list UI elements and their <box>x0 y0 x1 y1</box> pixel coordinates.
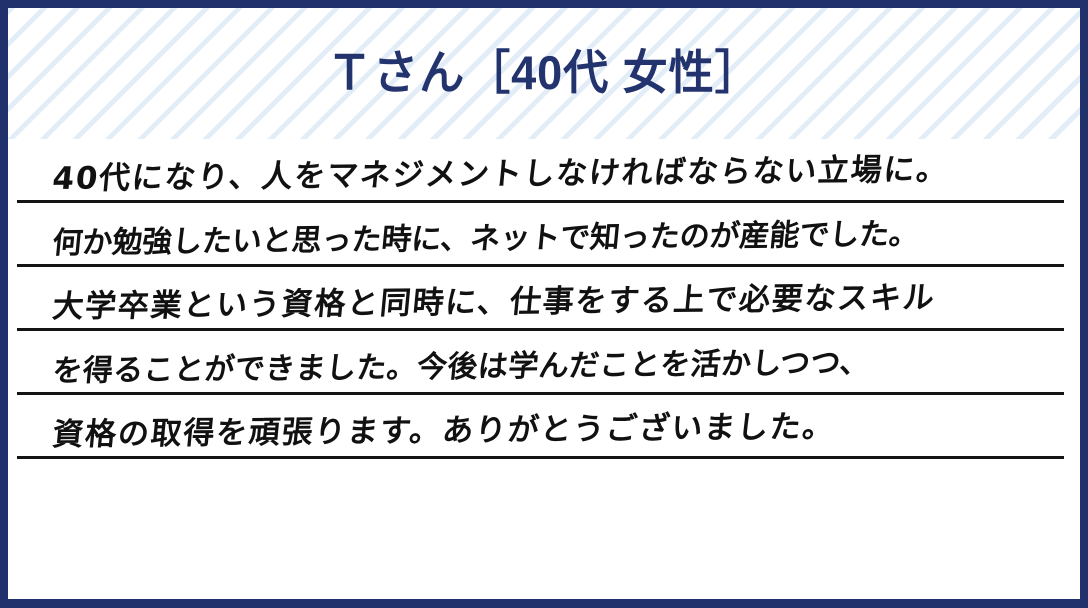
testimonial-card: Ｔさん［40代 女性］ 40代になり、人をマネジメントしなければならない立場に。… <box>0 0 1088 608</box>
card-header: Ｔさん［40代 女性］ <box>8 8 1080 139</box>
page-title: Ｔさん［40代 女性］ <box>327 49 761 98</box>
note-blank-area <box>8 505 1080 595</box>
note-ruled-lines: 40代になり、人をマネジメントしなければならない立場に。 何か勉強したいと思った… <box>17 139 1064 499</box>
note-line: 何か勉強したいと思った時に、ネットで知ったのが産能でした。 <box>17 203 1064 267</box>
note-line-text: 資格の取得を頑張ります。ありがとうございました。 <box>51 409 1068 451</box>
note-line: 40代になり、人をマネジメントしなければならない立場に。 <box>17 139 1064 203</box>
handwritten-note: 40代になり、人をマネジメントしなければならない立場に。 何か勉強したいと思った… <box>8 139 1080 599</box>
note-line: を得ることができました。今後は学んだことを活かしつつ、 <box>17 331 1064 395</box>
note-line-text: 大学卒業という資格と同時に、仕事をする上で必要なスキル <box>51 281 1068 323</box>
note-line-text: 何か勉強したいと思った時に、ネットで知ったのが産能でした。 <box>51 218 1068 259</box>
note-line: 大学卒業という資格と同時に、仕事をする上で必要なスキル <box>17 267 1064 331</box>
note-line: 資格の取得を頑張ります。ありがとうございました。 <box>17 395 1064 459</box>
note-line-text: を得ることができました。今後は学んだことを活かしつつ、 <box>51 346 1068 387</box>
note-line-text: 40代になり、人をマネジメントしなければならない立場に。 <box>51 153 1068 195</box>
